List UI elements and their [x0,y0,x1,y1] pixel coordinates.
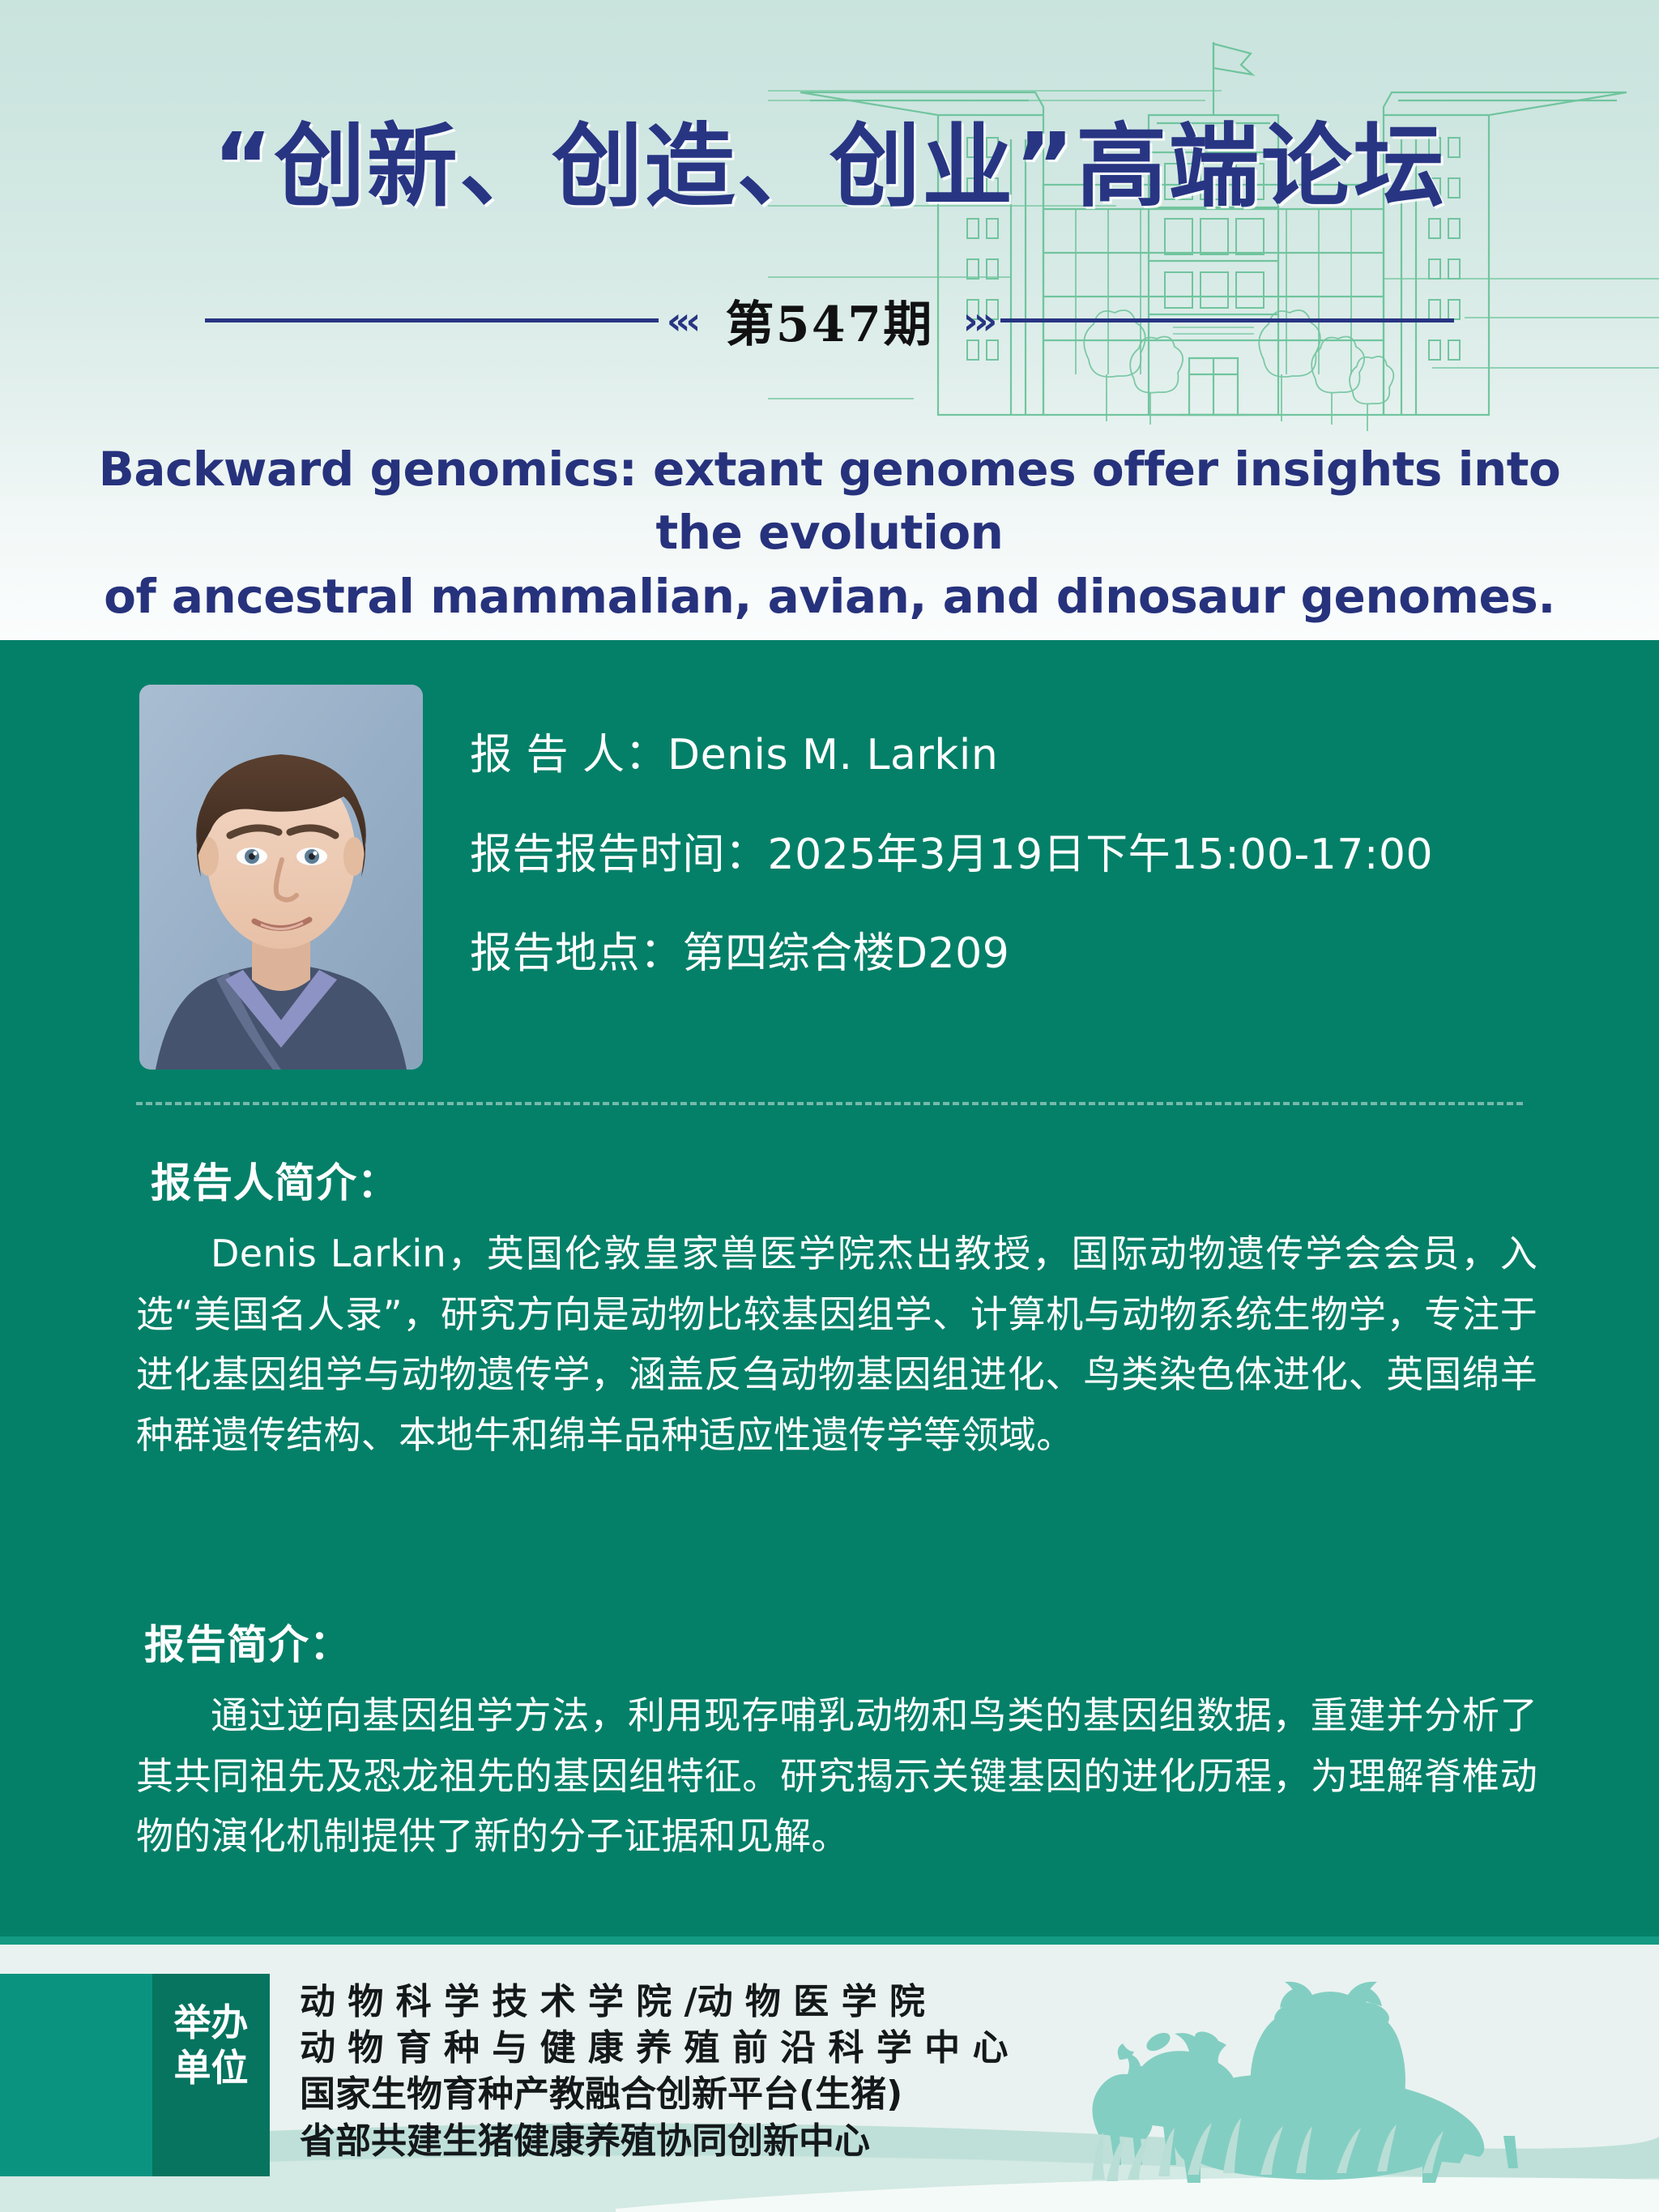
list-item: 国家生物育种产教融合创新平台(生猪) [300,2071,1008,2117]
organizer-label-line-2: 单位 [152,2045,270,2090]
issue-number: 第547期 [704,285,954,356]
speaker-name: 报 告 人：Denis M. Larkin [470,733,1565,778]
list-item: 动 物 育 种 与 健 康 养 殖 前 沿 科 学 中 心 [300,2025,1008,2071]
poster-header: “创新、创造、创业”高端论坛 «‹ 第547期 ›» Backward geno… [0,0,1659,640]
speaker-photo [139,685,423,1070]
organizer-list: 动 物 科 学 技 术 学 院 /动 物 医 学 院 动 物 育 种 与 健 康… [300,1979,1008,2164]
list-item: 省部共建生猪健康养殖协同创新中心 [300,2118,1008,2164]
poster-body: 报 告 人：Denis M. Larkin 报告报告时间：2025年3月19日下… [0,640,1659,1937]
page-title: “创新、创造、创业”高端论坛 [0,122,1659,212]
chevron-left-icon: «‹ [659,302,705,339]
talk-time: 报告报告时间：2025年3月19日下午15:00-17:00 [470,833,1565,878]
chevron-right-icon: ›» [955,302,1001,339]
issue-rule-right [1000,318,1454,322]
list-item: 动 物 科 学 技 术 学 院 /动 物 医 学 院 [300,1979,1008,2025]
organizer-label: 举办 单位 [152,2000,270,2090]
bio-text: Denis Larkin，英国伦敦皇家兽医学院杰出教授，国际动物遗传学会会员，入… [136,1223,1537,1465]
bio-heading: 报告人简介： [151,1151,399,1209]
avatar [139,685,423,1070]
speaker-meta: 报 告 人：Denis M. Larkin 报告报告时间：2025年3月19日下… [470,685,1565,1070]
talk-venue: 报告地点：第四综合楼D209 [470,932,1565,976]
english-title-line-1: Backward genomics: extant genomes offer … [65,438,1594,565]
speaker-row: 报 告 人：Denis M. Larkin 报告报告时间：2025年3月19日下… [139,685,1565,1070]
title-zone: “创新、创造、创业”高端论坛 [0,122,1659,212]
issue-row: «‹ 第547期 ›» [0,285,1659,356]
section-divider [136,1102,1523,1105]
poster-footer: 举办 单位 动 物 科 学 技 术 学 院 /动 物 医 学 院 动 物 育 种… [0,1937,1659,2212]
issue-rule-left [205,318,659,322]
abstract-heading: 报告简介： [144,1612,351,1671]
abstract-text: 通过逆向基因组学方法，利用现存哺乳动物和鸟类的基因组数据，重建并分析了其共同祖先… [136,1685,1537,1867]
english-title: Backward genomics: extant genomes offer … [65,438,1594,628]
organizer-label-line-1: 举办 [152,2000,270,2045]
english-title-line-2: of ancestral mammalian, avian, and dinos… [65,565,1594,628]
